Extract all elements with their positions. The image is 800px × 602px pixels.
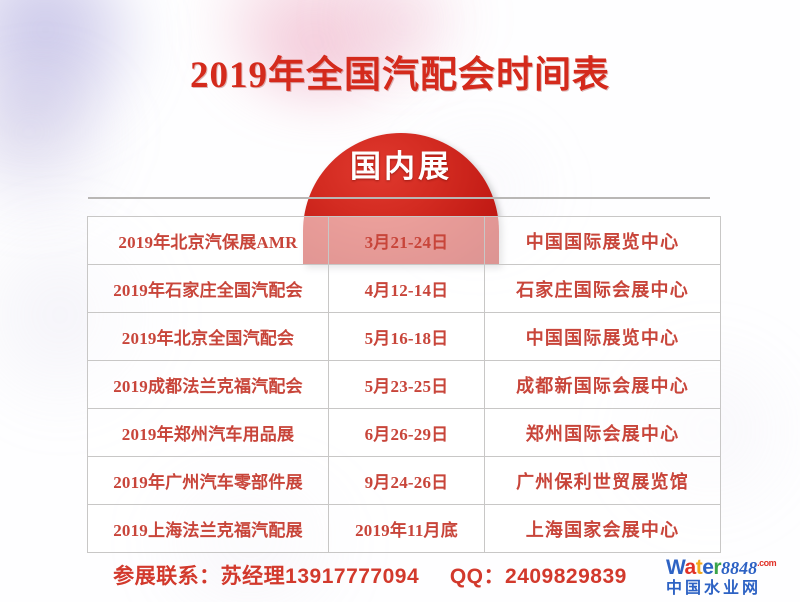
watermark-letter-e: e [702,556,713,579]
exhibition-venue: 广州保利世贸展览馆 [485,457,721,505]
table-row: 2019成都法兰克福汽配会 5月23-25日 成都新国际会展中心 [88,361,721,409]
table-row: 2019年北京全国汽配会 5月16-18日 中国国际展览中心 [88,313,721,361]
exhibition-date: 9月24-26日 [329,457,485,505]
page-title: 2019年全国汽配会时间表 [0,44,800,98]
exhibition-date: 3月21-24日 [329,217,485,265]
section-banner: 国内展 [303,133,499,199]
exhibition-name: 2019年郑州汽车用品展 [88,409,329,457]
schedule-table: 2019年北京汽保展AMR 3月21-24日 中国国际展览中心 2019年石家庄… [87,216,721,553]
watermark-letter-w: W [666,556,685,579]
poster-root: 2019年全国汽配会时间表 国内展 2019年北京汽保展AMR 3月21-24日… [0,0,800,602]
watermark-logo: Water8848.com 中国水业网 [666,552,794,599]
exhibition-name: 2019年广州汽车零部件展 [88,457,329,505]
exhibition-name: 2019年北京汽保展AMR [88,217,329,265]
exhibition-date: 4月12-14日 [329,265,485,313]
table-row: 2019年北京汽保展AMR 3月21-24日 中国国际展览中心 [88,217,721,265]
exhibition-date: 5月16-18日 [329,313,485,361]
exhibition-date: 6月26-29日 [329,409,485,457]
exhibition-venue: 中国国际展览中心 [485,217,721,265]
exhibition-venue: 成都新国际会展中心 [485,361,721,409]
header-divider [88,197,710,199]
watermark-wordmark: Water8848.com [666,552,794,579]
exhibition-name: 2019上海法兰克福汽配展 [88,505,329,553]
watermark-subtitle: 中国水业网 [666,579,794,599]
watermark-letter-a: a [685,556,696,579]
exhibition-venue: 郑州国际会展中心 [485,409,721,457]
table-row: 2019年郑州汽车用品展 6月26-29日 郑州国际会展中心 [88,409,721,457]
watermark-letter-r: r [713,556,721,579]
table-row: 2019年石家庄全国汽配会 4月12-14日 石家庄国际会展中心 [88,265,721,313]
schedule-table-body: 2019年北京汽保展AMR 3月21-24日 中国国际展览中心 2019年石家庄… [88,217,721,553]
exhibition-name: 2019年石家庄全国汽配会 [88,265,329,313]
exhibition-date: 2019年11月底 [329,505,485,553]
contact-phone-text: 参展联系：苏经理13917777094 [113,565,419,588]
watermark-number: 8848 [721,558,757,578]
exhibition-name: 2019成都法兰克福汽配会 [88,361,329,409]
exhibition-venue: 中国国际展览中心 [485,313,721,361]
footer-contact: 参展联系：苏经理13917777094 QQ：2409829839 [90,560,650,590]
schedule-table-wrapper: 2019年北京汽保展AMR 3月21-24日 中国国际展览中心 2019年石家庄… [87,216,711,553]
exhibition-date: 5月23-25日 [329,361,485,409]
exhibition-name: 2019年北京全国汽配会 [88,313,329,361]
contact-qq-text: QQ：2409829839 [450,565,627,588]
banner-label: 国内展 [303,141,499,186]
exhibition-venue: 上海国家会展中心 [485,505,721,553]
exhibition-venue: 石家庄国际会展中心 [485,265,721,313]
table-row: 2019年广州汽车零部件展 9月24-26日 广州保利世贸展览馆 [88,457,721,505]
watermark-tld: .com [757,558,776,568]
table-row: 2019上海法兰克福汽配展 2019年11月底 上海国家会展中心 [88,505,721,553]
